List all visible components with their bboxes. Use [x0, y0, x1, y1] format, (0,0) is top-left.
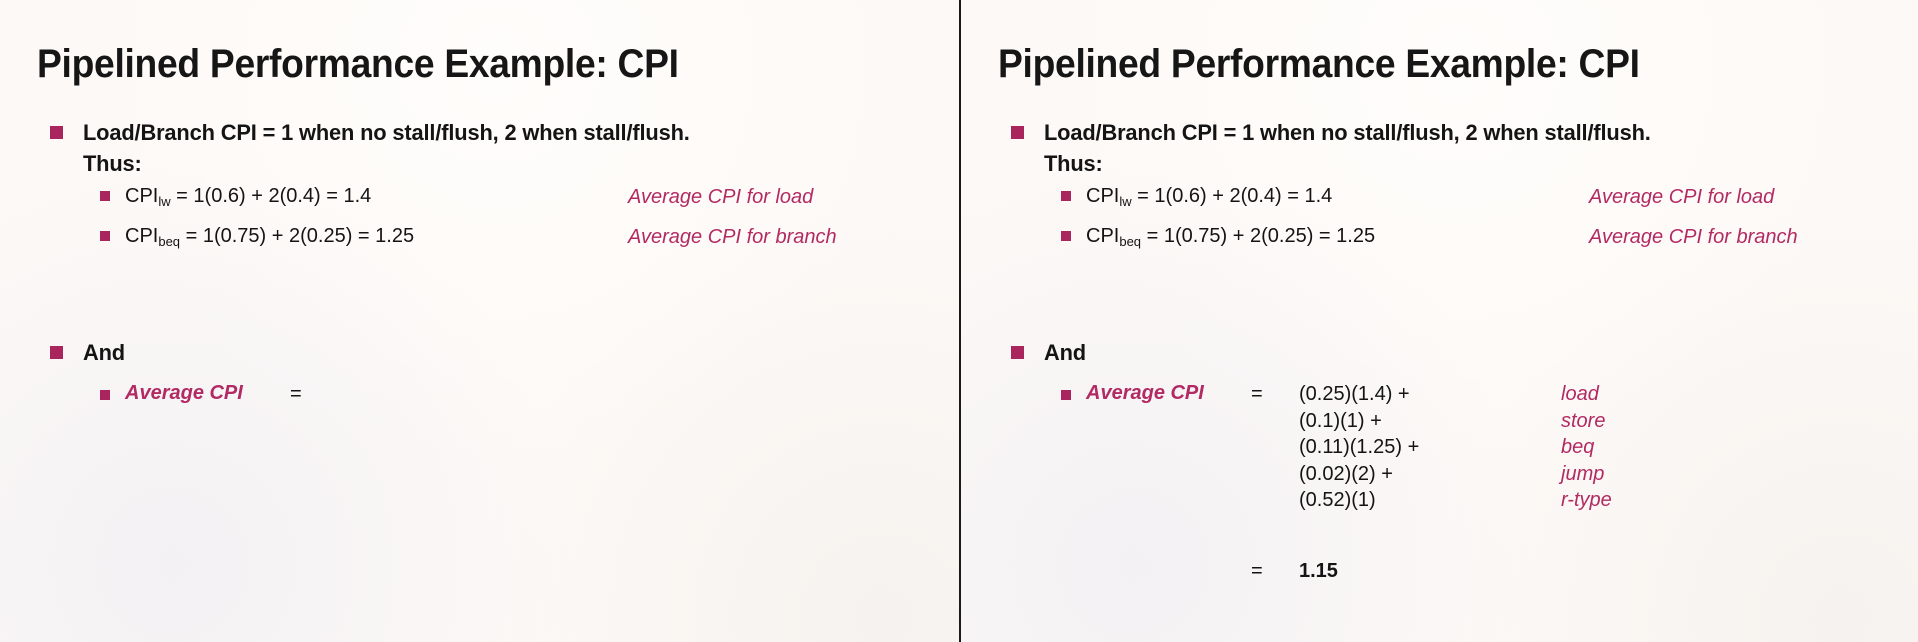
bullet-square-icon	[1011, 346, 1024, 359]
slide-comparison-deck: Pipelined Performance Example: CPI Load/…	[0, 0, 1918, 642]
cpi-beq-equation: CPIbeq = 1(0.75) + 2(0.25) = 1.25	[1086, 223, 1375, 251]
average-cpi-label: Average CPI	[1086, 382, 1204, 405]
bullet-square-small-icon	[1061, 191, 1071, 201]
result-value: 1.15	[1299, 560, 1338, 583]
cpi-beq-prefix: CPI	[1086, 225, 1119, 247]
bullet-square-small-icon	[100, 191, 110, 201]
bullet-main-text: Load/Branch CPI = 1 when no stall/flush,…	[83, 117, 690, 179]
cpi-lw-equation: CPIlw = 1(0.6) + 2(0.4) = 1.4	[125, 183, 371, 211]
bullet-and-text: And	[1044, 337, 1086, 368]
cpi-lw-suffix: = 1(0.6) + 2(0.4) = 1.4	[171, 185, 372, 207]
page-title: Pipelined Performance Example: CPI	[37, 42, 679, 87]
average-cpi-equals-sign: =	[1251, 383, 1263, 406]
sub-bullet-cpi-beq: CPIbeq = 1(0.75) + 2(0.25) = 1.25	[100, 223, 414, 251]
bullet-and-text: And	[83, 337, 125, 368]
annotation-average-cpi-load: Average CPI for load	[628, 184, 813, 211]
sub-bullet-cpi-lw: CPIlw = 1(0.6) + 2(0.4) = 1.4	[100, 183, 371, 211]
cpi-lw-prefix: CPI	[125, 185, 158, 207]
bullet-square-icon	[50, 346, 63, 359]
bullet-main: Load/Branch CPI = 1 when no stall/flush,…	[50, 117, 930, 179]
bullet-main-text: Load/Branch CPI = 1 when no stall/flush,…	[1044, 117, 1651, 179]
cpi-beq-prefix: CPI	[125, 225, 158, 247]
bullet-square-icon	[50, 126, 63, 139]
cpi-lw-suffix: = 1(0.6) + 2(0.4) = 1.4	[1132, 185, 1333, 207]
result-equals-sign: =	[1251, 560, 1263, 583]
slide-right: Pipelined Performance Example: CPI Load/…	[959, 0, 1918, 642]
annotation-average-cpi-load: Average CPI for load	[1589, 184, 1774, 211]
bullet-square-small-icon	[100, 390, 110, 400]
bullet-square-small-icon	[1061, 390, 1071, 400]
bullet-and: And	[50, 337, 126, 368]
average-cpi-expression-lines: (0.25)(1.4) + (0.1)(1) + (0.11)(1.25) + …	[1299, 381, 1419, 514]
bullet-square-small-icon	[100, 231, 110, 241]
cpi-lw-subscript: lw	[158, 194, 170, 209]
cpi-lw-equation: CPIlw = 1(0.6) + 2(0.4) = 1.4	[1086, 183, 1332, 211]
cpi-lw-subscript: lw	[1119, 194, 1131, 209]
cpi-beq-suffix: = 1(0.75) + 2(0.25) = 1.25	[1141, 225, 1375, 247]
sub-bullet-cpi-beq: CPIbeq = 1(0.75) + 2(0.25) = 1.25	[1061, 223, 1375, 251]
cpi-beq-suffix: = 1(0.75) + 2(0.25) = 1.25	[180, 225, 414, 247]
page-title: Pipelined Performance Example: CPI	[998, 42, 1640, 87]
annotation-average-cpi-branch: Average CPI for branch	[628, 224, 837, 251]
cpi-lw-prefix: CPI	[1086, 185, 1119, 207]
average-cpi-equals-sign: =	[290, 383, 302, 406]
sub-bullet-average-cpi: Average CPI	[100, 382, 243, 405]
sub-bullet-average-cpi: Average CPI	[1061, 382, 1204, 405]
average-cpi-label: Average CPI	[125, 382, 243, 405]
sub-bullet-cpi-lw: CPIlw = 1(0.6) + 2(0.4) = 1.4	[1061, 183, 1332, 211]
average-cpi-expression-labels: load store beq jump r-type	[1561, 381, 1612, 514]
cpi-beq-subscript: beq	[158, 234, 180, 249]
bullet-and: And	[1011, 337, 1087, 368]
bullet-square-small-icon	[1061, 231, 1071, 241]
cpi-beq-equation: CPIbeq = 1(0.75) + 2(0.25) = 1.25	[125, 223, 414, 251]
slide-left: Pipelined Performance Example: CPI Load/…	[0, 0, 959, 642]
bullet-main: Load/Branch CPI = 1 when no stall/flush,…	[1011, 117, 1891, 179]
annotation-average-cpi-branch: Average CPI for branch	[1589, 224, 1798, 251]
bullet-square-icon	[1011, 126, 1024, 139]
cpi-beq-subscript: beq	[1119, 234, 1141, 249]
